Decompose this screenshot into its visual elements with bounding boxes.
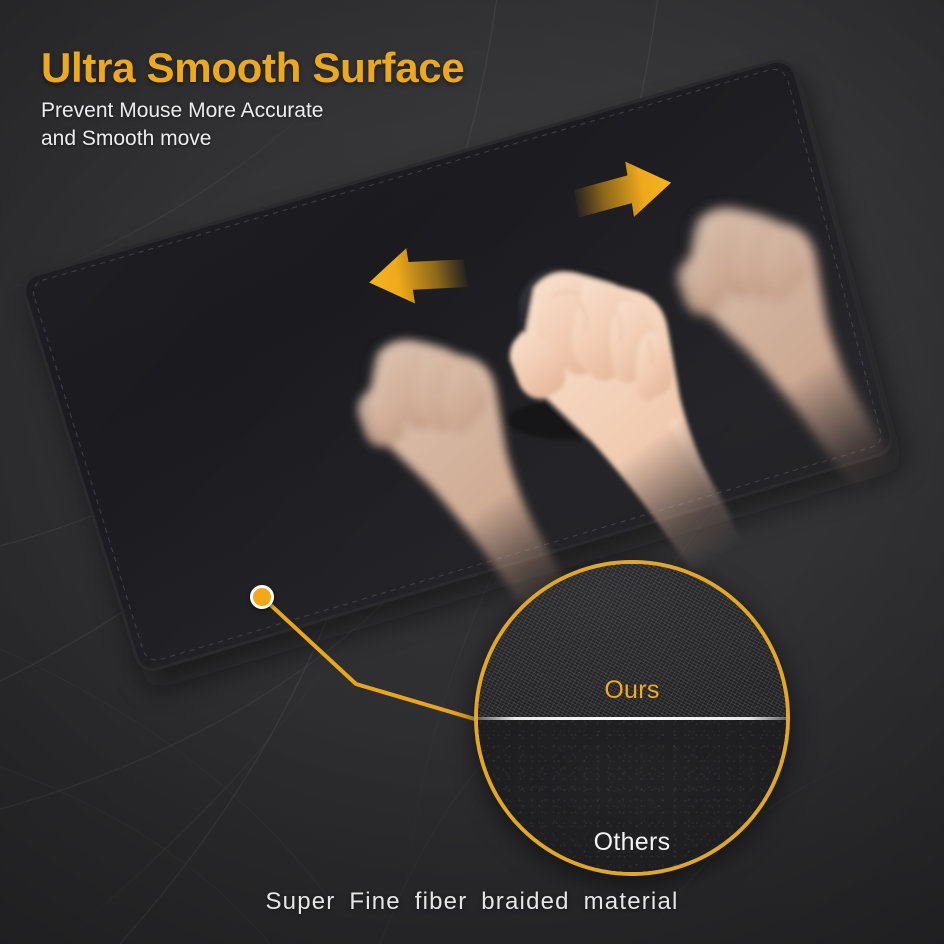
product-marketing-image: Ours Others Ultra Smooth Surface Prevent…: [0, 0, 944, 944]
magnifier-divider: [478, 717, 786, 720]
page-title: Ultra Smooth Surface: [41, 44, 464, 92]
subtitle-line-2: and Smooth move: [41, 125, 323, 153]
magnifier-ours-label: Ours: [478, 676, 786, 705]
magnifier-others-label: Others: [478, 828, 786, 857]
callout-dot-icon: [250, 585, 274, 609]
page-subtitle: Prevent Mouse More Accurate and Smooth m…: [41, 97, 323, 154]
magnifier-comparison: Ours Others: [474, 560, 790, 876]
material-caption: Super Fine fiber braided material: [0, 888, 944, 916]
subtitle-line-1: Prevent Mouse More Accurate: [41, 97, 323, 125]
